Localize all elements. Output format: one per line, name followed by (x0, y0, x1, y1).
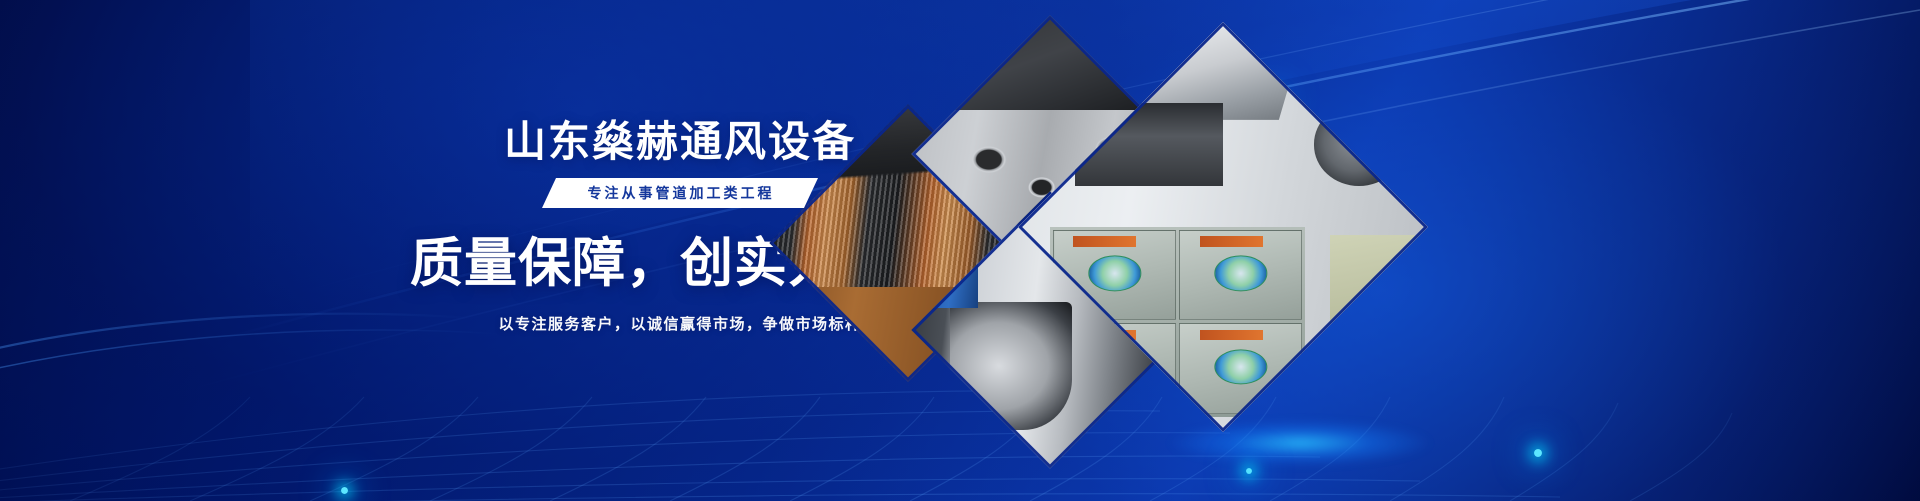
ribbon-shape: 专注从事管道加工类工程 (542, 178, 818, 208)
cabinet-door (1179, 230, 1302, 320)
cabinet-badge-icon (1088, 256, 1141, 291)
glow-dot-lower-left (341, 487, 348, 494)
subtitle-ribbon: 专注从事管道加工类工程 (542, 178, 818, 208)
cabinet-door (1179, 323, 1302, 413)
cabinet-badge-icon (1214, 349, 1267, 384)
hero-banner: 山东燊赫通风设备 专注从事管道加工类工程 质量保障，创实力企业 以专注服务客户，… (0, 0, 1920, 501)
glow-dot-lower-right (1534, 449, 1542, 457)
side-panel (1330, 235, 1421, 416)
cabinet-label (1200, 330, 1263, 341)
cabinet-label (1200, 236, 1263, 247)
glow-dot-center-bottom (1246, 468, 1252, 474)
fan-unit (1314, 103, 1405, 185)
ribbon-label: 专注从事管道加工类工程 (586, 183, 775, 203)
diamond-photo-collage (800, 30, 1440, 450)
cabinet-label (1073, 236, 1136, 247)
cabinet-badge-icon (1214, 256, 1267, 291)
